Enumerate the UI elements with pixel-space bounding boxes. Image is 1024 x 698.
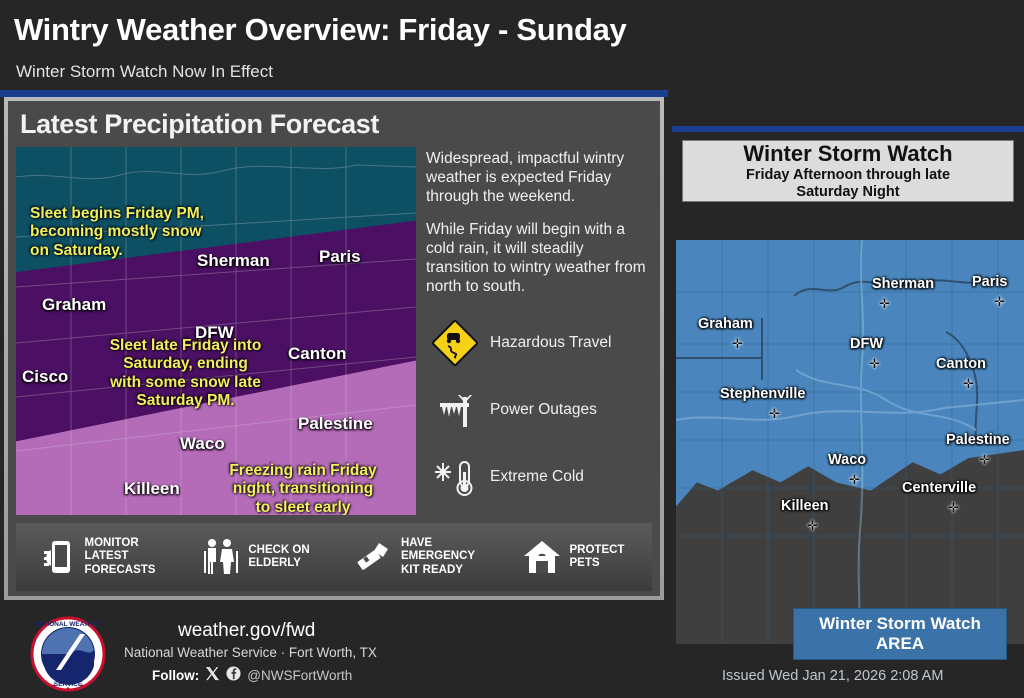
winter-storm-watch-header: Winter Storm Watch Friday Afternoon thro… [682,140,1014,202]
summary-paragraph-1: Widespread, impactful wintry weather is … [426,149,650,207]
follow-label: Follow: [152,668,199,683]
watch-city-canton: Canton [936,356,986,372]
watch-city-stephenville: Stephenville [720,386,805,402]
precipitation-forecast-panel: Latest Precipitation Forecast Sleet begi… [4,97,664,600]
watch-marker-paris: ✛ [994,296,1005,307]
watch-marker-palestine: ✛ [979,454,990,465]
facebook-icon[interactable] [226,666,241,684]
legend-line-1: Winter Storm Watch [819,614,981,634]
watch-city-killeen: Killeen [781,498,829,514]
watch-period: Friday Afternoon through late Saturday N… [746,167,950,200]
forecast-summary: Widespread, impactful wintry weather is … [426,149,650,310]
phone-icon [36,538,78,576]
hazard-label-cold: Extreme Cold [484,468,584,486]
flashlight-icon [352,538,394,576]
footer-url[interactable]: weather.gov/fwd [178,620,315,642]
watch-marker-canton: ✛ [963,378,974,389]
elderly-couple-icon [199,537,241,577]
panel-heading: Latest Precipitation Forecast [20,109,379,140]
hazard-item-travel: Hazardous Travel [426,309,656,376]
preparedness-strip: MONITOR LATEST FORECASTS [16,523,652,591]
slippery-road-sign-icon [426,320,484,366]
sleet-zone-note: Sleet late Friday into Saturday, ending … [78,337,293,410]
hazard-item-cold: Extreme Cold [426,443,656,510]
svg-text:NATIONAL WEATHER: NATIONAL WEATHER [34,621,101,628]
hazard-label-travel: Hazardous Travel [484,334,611,352]
watch-marker-waco: ✛ [849,474,860,485]
hazard-label-power: Power Outages [484,401,597,419]
watch-area-legend: Winter Storm Watch AREA [793,608,1007,660]
nws-logo: NATIONAL WEATHER SERVICE [30,616,106,697]
watch-city-dfw: DFW [850,336,883,352]
snowflake-thermometer-icon [426,454,484,500]
precipitation-map[interactable]: Sleet begins Friday PM, becoming mostly … [16,147,416,515]
weather-graphic: Wintry Weather Overview: Friday - Sunday… [0,0,1024,698]
watch-city-paris: Paris [972,274,1007,290]
prep-label-elderly: CHECK ON ELDERLY [241,544,309,571]
prep-item-monitor: MONITOR LATEST FORECASTS [16,537,175,577]
watch-city-centerville: Centerville [902,480,976,496]
hazard-list: Hazardous Travel Power Out [426,309,656,510]
prep-item-kit: HAVE EMERGENCY KIT READY [334,537,493,577]
page-title: Wintry Weather Overview: Friday - Sunday [14,12,626,48]
prep-item-elderly: CHECK ON ELDERLY [175,537,334,577]
city-label-paris: Paris [319,247,361,267]
footer-office: National Weather Service · Fort Worth, T… [124,645,377,660]
prep-item-pets: PROTECT PETS [493,539,652,575]
prep-label-kit: HAVE EMERGENCY KIT READY [394,537,475,577]
legend-line-2: AREA [876,634,924,654]
footer-follow: Follow: @NWSFortWorth [152,666,352,684]
summary-paragraph-2: While Friday will begin with a cold rain… [426,220,650,297]
freezing-rain-zone-note: Freezing rain Friday night, transitionin… [198,462,408,515]
watch-marker-dfw: ✛ [869,358,880,369]
watch-title: Winter Storm Watch [743,141,952,167]
city-label-graham: Graham [42,295,106,315]
watch-marker-stephenville: ✛ [769,408,780,419]
city-label-canton: Canton [288,344,347,364]
iced-power-line-icon [426,387,484,433]
left-panel-accent-bar [0,90,668,97]
prep-label-pets: PROTECT PETS [563,544,625,571]
city-label-cisco: Cisco [22,367,68,387]
city-label-palestine: Palestine [298,414,373,434]
pet-house-icon [521,539,563,575]
watch-city-graham: Graham [698,316,753,332]
watch-marker-sherman: ✛ [879,298,890,309]
social-handle[interactable]: @NWSFortWorth [247,668,352,683]
watch-marker-killeen: ✛ [807,520,818,531]
watch-city-waco: Waco [828,452,866,468]
x-twitter-icon[interactable] [205,666,220,684]
city-label-waco: Waco [180,434,225,454]
right-panel-accent-bar [672,126,1024,132]
watch-city-palestine: Palestine [946,432,1010,448]
winter-storm-watch-map[interactable]: Sherman ✛ Paris ✛ Graham ✛ DFW ✛ Canton … [676,240,1024,644]
watch-marker-graham: ✛ [732,338,743,349]
svg-text:SERVICE: SERVICE [54,681,83,688]
hazard-item-power: Power Outages [426,376,656,443]
city-label-sherman: Sherman [197,251,270,271]
city-label-dfw: DFW [195,323,234,343]
prep-label-monitor: MONITOR LATEST FORECASTS [78,537,156,577]
watch-marker-centerville: ✛ [948,502,959,513]
watch-city-sherman: Sherman [872,276,934,292]
issued-timestamp: Issued Wed Jan 21, 2026 2:08 AM [722,668,943,684]
page-subtitle: Winter Storm Watch Now In Effect [16,62,273,82]
city-label-killeen: Killeen [124,479,180,499]
